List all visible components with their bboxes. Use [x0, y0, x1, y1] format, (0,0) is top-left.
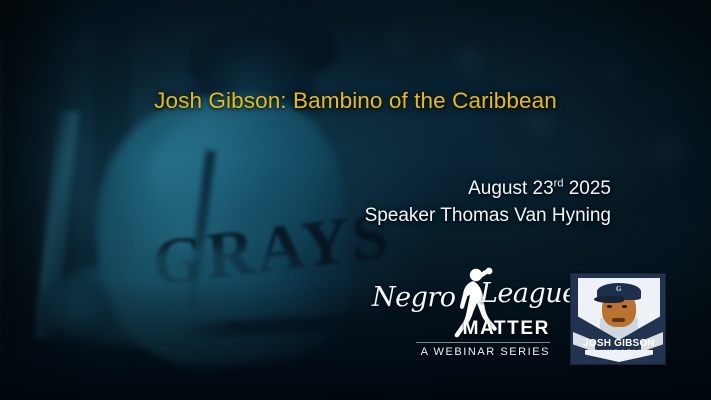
josh-gibson-portrait: G	[578, 278, 660, 340]
webinar-series-text: A WEBINAR SERIES	[421, 346, 550, 358]
slide-title: Josh Gibson: Bambino of the Caribbean	[0, 88, 711, 114]
event-date-year: 2025	[563, 178, 611, 199]
logo-bottom-plate	[585, 350, 653, 362]
portrait-cap-brim	[594, 296, 624, 303]
event-date-day: August 23	[468, 178, 554, 199]
portrait-eye-right	[622, 305, 627, 308]
webinar-title-slide: GRAYS Josh Gibson: Bambino of the Caribb…	[0, 0, 711, 400]
negro-leagues-matter-logo: Negro Leagues MATTER A WEBINAR SERIES	[374, 272, 556, 364]
event-date-ordinal: rd	[554, 178, 564, 190]
josh-gibson-foundation-logo: G JOSH GIBSON FOUNDATION	[570, 273, 666, 365]
event-date: August 23rd 2025	[365, 176, 611, 201]
event-speaker: Speaker Thomas Van Hyning	[365, 203, 611, 228]
logo-divider	[416, 342, 550, 343]
portrait-eye-left	[607, 305, 612, 308]
event-details: August 23rd 2025 Speaker Thomas Van Hyni…	[365, 176, 611, 229]
foundation-name: JOSH GIBSON	[571, 338, 667, 349]
matter-text: MATTER	[463, 318, 550, 340]
cap-letter: G	[616, 285, 621, 293]
negro-script-text: Negro	[372, 282, 456, 313]
portrait-mouth	[612, 318, 625, 322]
